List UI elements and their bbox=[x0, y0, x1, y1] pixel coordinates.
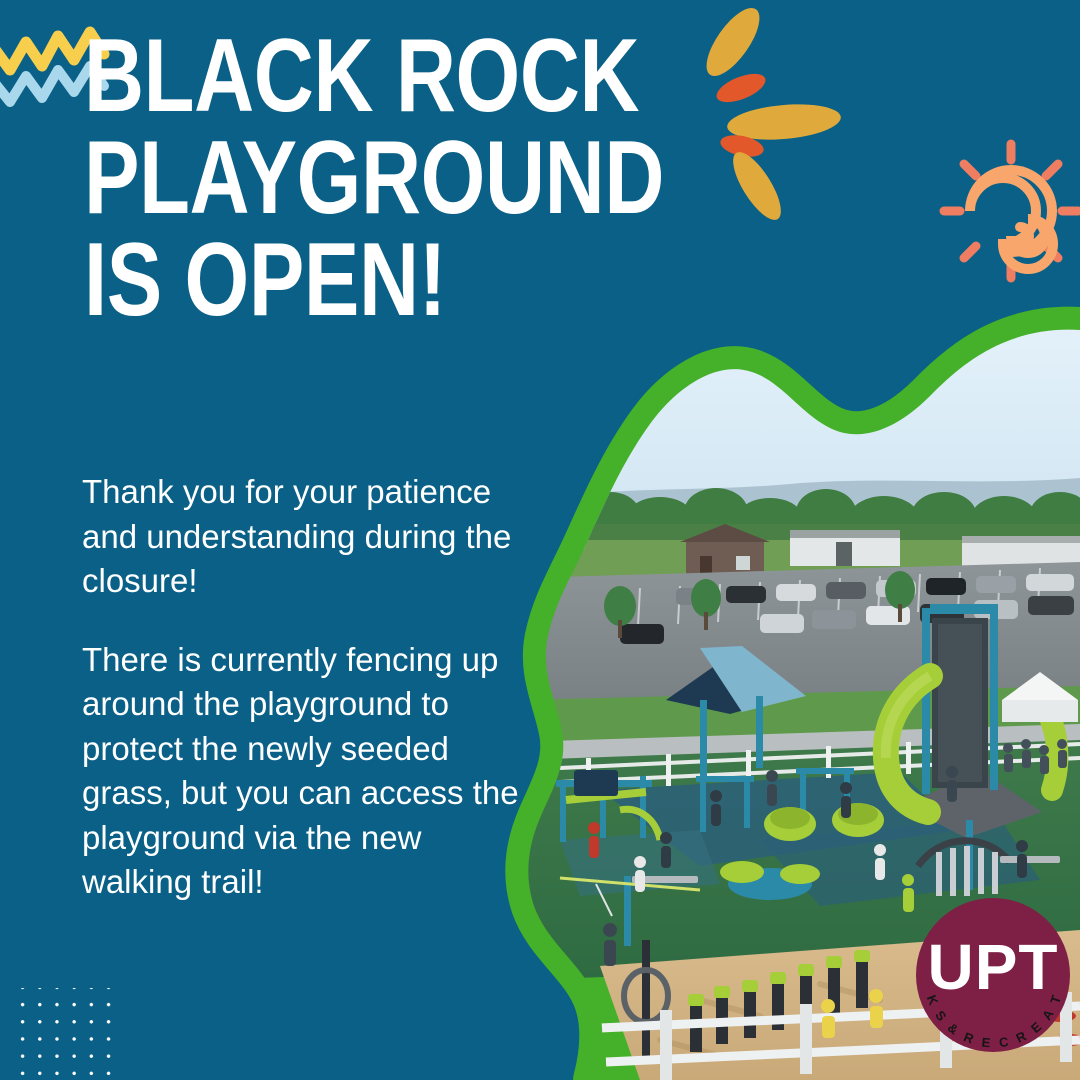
dot-grid-pattern bbox=[8, 988, 116, 1080]
poster-canvas: Black Rock Playground Is Open! Thank you… bbox=[0, 0, 1080, 1080]
body-paragraph-1: Thank you for your patience and understa… bbox=[82, 470, 537, 604]
headline-line-2: Playground bbox=[84, 128, 596, 230]
logo-initials: UPT bbox=[928, 935, 1059, 999]
petal-burst-icon bbox=[668, 0, 858, 234]
body-paragraph-2: There is currently fencing up around the… bbox=[82, 638, 537, 905]
page-title: Black Rock Playground Is Open! bbox=[84, 26, 596, 332]
headline-line-1: Black Rock bbox=[84, 26, 596, 128]
body-copy: Thank you for your patience and understa… bbox=[82, 470, 537, 905]
headline-line-3: Is Open! bbox=[84, 230, 596, 332]
upt-logo-badge: UPT bbox=[916, 898, 1070, 1052]
spiral-sun-icon bbox=[938, 138, 1080, 284]
